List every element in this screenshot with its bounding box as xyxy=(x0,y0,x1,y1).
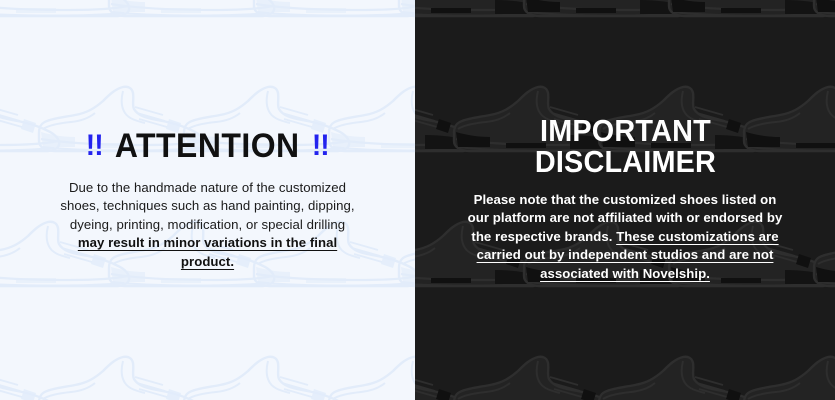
attention-panel: !! ATTENTION !! Due to the handmade natu… xyxy=(0,0,415,400)
attention-body: Due to the handmade nature of the custom… xyxy=(58,179,358,272)
disclaimer-heading: IMPORTANT DISCLAIMER xyxy=(534,116,715,176)
attention-heading: !! ATTENTION !! xyxy=(86,129,329,163)
attention-bangs-left: !! xyxy=(86,131,103,161)
disclaimer-body-line-3: the respective brands. xyxy=(471,229,612,244)
attention-bangs-right: !! xyxy=(312,131,329,161)
attention-content: !! ATTENTION !! Due to the handmade natu… xyxy=(0,0,415,400)
disclaimer-panel: IMPORTANT DISCLAIMER Please note that th… xyxy=(415,0,835,400)
attention-body-line-1: Due to the handmade nature of the custom… xyxy=(69,180,346,195)
disclaimer-body-line-1: Please note that the customized shoes li… xyxy=(474,192,777,207)
disclaimer-content: IMPORTANT DISCLAIMER Please note that th… xyxy=(415,0,835,400)
attention-body-emphasis: may result in minor variations in the fi… xyxy=(78,235,337,269)
attention-heading-text: ATTENTION xyxy=(115,129,300,163)
attention-body-line-3: dyeing, printing, modification, or speci… xyxy=(70,217,345,232)
disclaimer-body: Please note that the customized shoes li… xyxy=(465,191,785,284)
disclaimer-body-line-2: our platform are not affiliated with or … xyxy=(468,210,783,225)
disclaimer-banner: !! ATTENTION !! Due to the handmade natu… xyxy=(0,0,835,400)
disclaimer-heading-line-2: DISCLAIMER xyxy=(534,147,715,177)
disclaimer-heading-line-1: IMPORTANT xyxy=(534,116,715,146)
attention-body-line-2: shoes, techniques such as hand painting,… xyxy=(60,198,354,213)
